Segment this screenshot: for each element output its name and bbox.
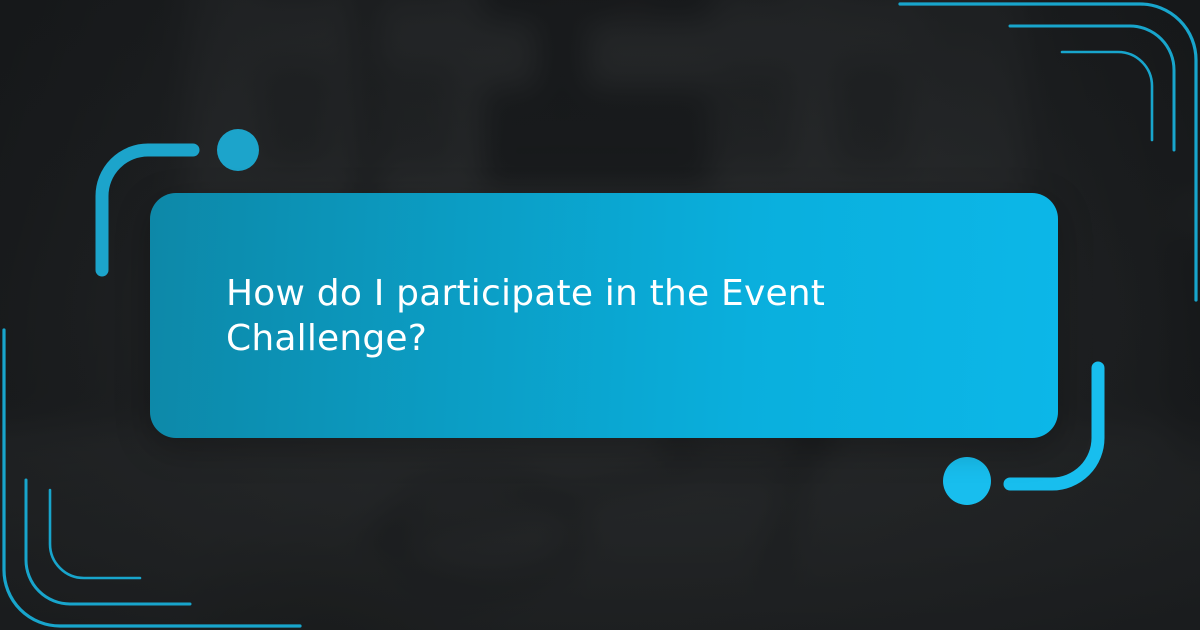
question-title: How do I participate in the Event Challe…	[226, 271, 1018, 361]
banner-canvas: How do I participate in the Event Challe…	[0, 0, 1200, 630]
question-card[interactable]: How do I participate in the Event Challe…	[150, 193, 1058, 438]
